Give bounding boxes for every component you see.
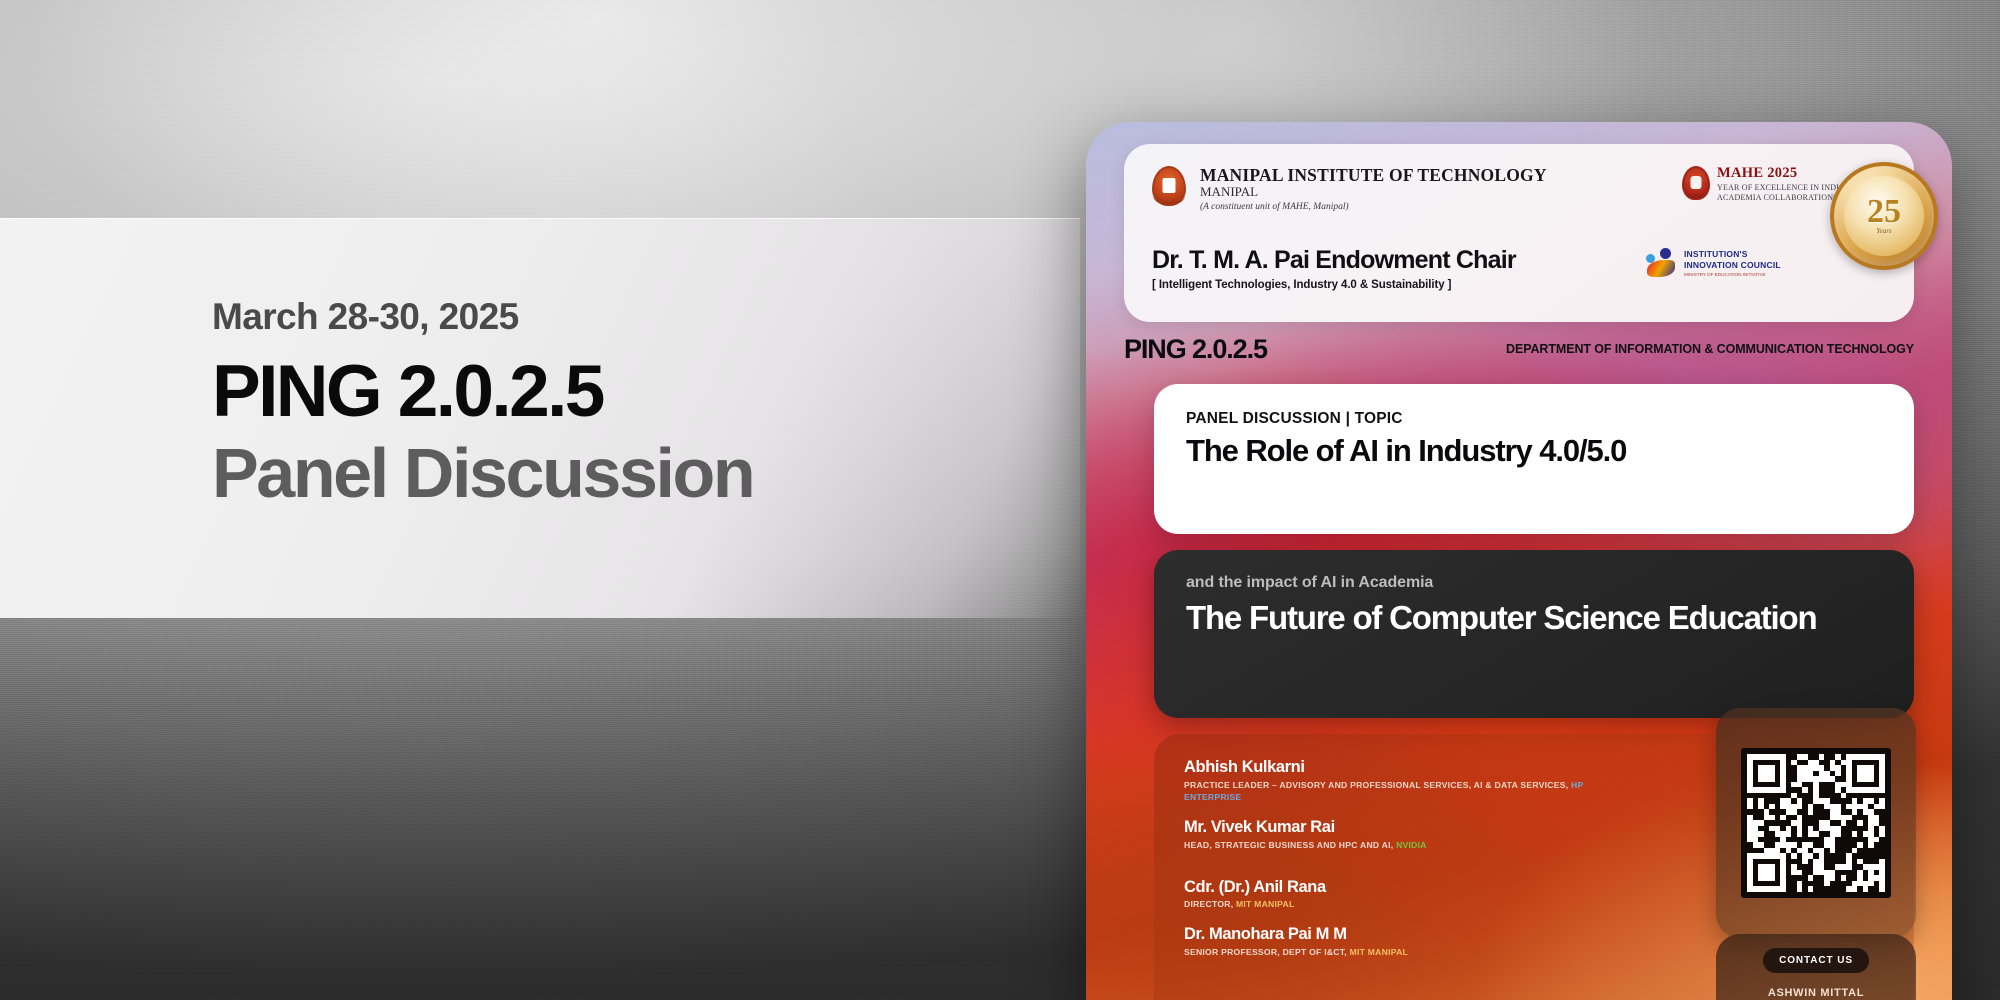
speaker-list: Abhish KulkarniPRACTICE LEADER – ADVISOR… bbox=[1184, 758, 1584, 959]
hero-title: PING 2.0.2.5 bbox=[212, 355, 1032, 429]
hero-date: March 28-30, 2025 bbox=[212, 298, 1032, 335]
institute-city: MANIPAL bbox=[1200, 184, 1668, 201]
speaker-name: Cdr. (Dr.) Anil Rana bbox=[1184, 878, 1584, 897]
speaker-organisation: MIT MANIPAL bbox=[1350, 947, 1408, 957]
institute-identity-row: MANIPAL INSTITUTE OF TECHNOLOGY MANIPAL … bbox=[1152, 166, 1890, 214]
panel-topic-title: The Role of AI in Industry 4.0/5.0 bbox=[1186, 435, 1882, 468]
speaker-item: Abhish KulkarniPRACTICE LEADER – ADVISOR… bbox=[1184, 758, 1584, 804]
speaker-name: Abhish Kulkarni bbox=[1184, 758, 1584, 777]
speaker-role: DIRECTOR, MIT MANIPAL bbox=[1184, 899, 1584, 911]
speaker-item: Mr. Vivek Kumar RaiHEAD, STRATEGIC BUSIN… bbox=[1184, 818, 1584, 852]
contact-name: ASHWIN MITTAL bbox=[1728, 987, 1904, 999]
speaker-role: SENIOR PROFESSOR, DEPT OF I&CT, MIT MANI… bbox=[1184, 947, 1584, 959]
panel-topic-kicker: PANEL DISCUSSION | TOPIC bbox=[1186, 410, 1882, 428]
speaker-role: PRACTICE LEADER – ADVISORY AND PROFESSIO… bbox=[1184, 780, 1584, 804]
jubilee-years-label: Years bbox=[1876, 227, 1891, 235]
department-label: DEPARTMENT OF INFORMATION & COMMUNICATIO… bbox=[1506, 342, 1914, 357]
iic-label: INSTITUTION'S INNOVATION COUNCIL bbox=[1684, 249, 1796, 270]
speaker-organisation: MIT MANIPAL bbox=[1236, 899, 1294, 909]
contact-panel: CONTACT US ASHWIN MITTAL+91 99718 82633P… bbox=[1716, 934, 1916, 1000]
mahe-crest-icon bbox=[1682, 166, 1710, 200]
jubilee-number: 25 bbox=[1867, 197, 1901, 228]
speaker-role: HEAD, STRATEGIC BUSINESS AND HPC AND AI,… bbox=[1184, 840, 1584, 852]
hero-subtitle: Panel Discussion bbox=[212, 437, 1032, 511]
speaker-item: Dr. Manohara Pai M MSENIOR PROFESSOR, DE… bbox=[1184, 925, 1584, 959]
institute-name: MANIPAL INSTITUTE OF TECHNOLOGY bbox=[1200, 166, 1668, 184]
qr-code-icon[interactable] bbox=[1741, 748, 1891, 898]
event-poster-card: MANIPAL INSTITUTE OF TECHNOLOGY MANIPAL … bbox=[1086, 122, 1952, 1000]
poster-event-row: PING 2.0.2.5 DEPARTMENT OF INFORMATION &… bbox=[1124, 334, 1914, 365]
iic-swoosh-icon bbox=[1646, 248, 1678, 278]
institute-unit-note: (A constituent unit of MAHE, Manipal) bbox=[1200, 201, 1668, 213]
institute-name-block: MANIPAL INSTITUTE OF TECHNOLOGY MANIPAL … bbox=[1200, 166, 1668, 214]
endowment-chair-subtitle: [ Intelligent Technologies, Industry 4.0… bbox=[1152, 279, 1890, 291]
panel-theme-title: The Future of Computer Science Education bbox=[1186, 601, 1882, 636]
panel-theme-kicker: and the impact of AI in Academia bbox=[1186, 574, 1882, 592]
speaker-organisation: HP ENTERPRISE bbox=[1184, 780, 1583, 802]
speaker-name: Dr. Manohara Pai M M bbox=[1184, 925, 1584, 944]
speaker-organisation: NVIDIA bbox=[1396, 840, 1427, 850]
iic-sublabel: MINISTRY OF EDUCATION INITIATIVE bbox=[1684, 272, 1796, 277]
qr-panel[interactable] bbox=[1716, 708, 1916, 938]
contact-people-list: ASHWIN MITTAL+91 99718 82633PRISHA SINGH bbox=[1728, 987, 1904, 1000]
event-tag: PING 2.0.2.5 bbox=[1124, 334, 1267, 365]
panel-theme-card: and the impact of AI in Academia The Fut… bbox=[1154, 550, 1914, 718]
poster-header-card: MANIPAL INSTITUTE OF TECHNOLOGY MANIPAL … bbox=[1124, 144, 1914, 322]
contact-us-badge: CONTACT US bbox=[1763, 948, 1869, 973]
iic-logo-block: INSTITUTION'S INNOVATION COUNCIL MINISTR… bbox=[1646, 248, 1796, 278]
silver-jubilee-seal-icon: 25 Years bbox=[1830, 162, 1938, 270]
panel-topic-card: PANEL DISCUSSION | TOPIC The Role of AI … bbox=[1154, 384, 1914, 534]
speaker-item: Cdr. (Dr.) Anil RanaDIRECTOR, MIT MANIPA… bbox=[1184, 878, 1584, 912]
hero-text-block: March 28-30, 2025 PING 2.0.2.5 Panel Dis… bbox=[212, 298, 1032, 511]
speaker-name: Mr. Vivek Kumar Rai bbox=[1184, 818, 1584, 837]
manipal-crest-icon bbox=[1152, 166, 1186, 206]
